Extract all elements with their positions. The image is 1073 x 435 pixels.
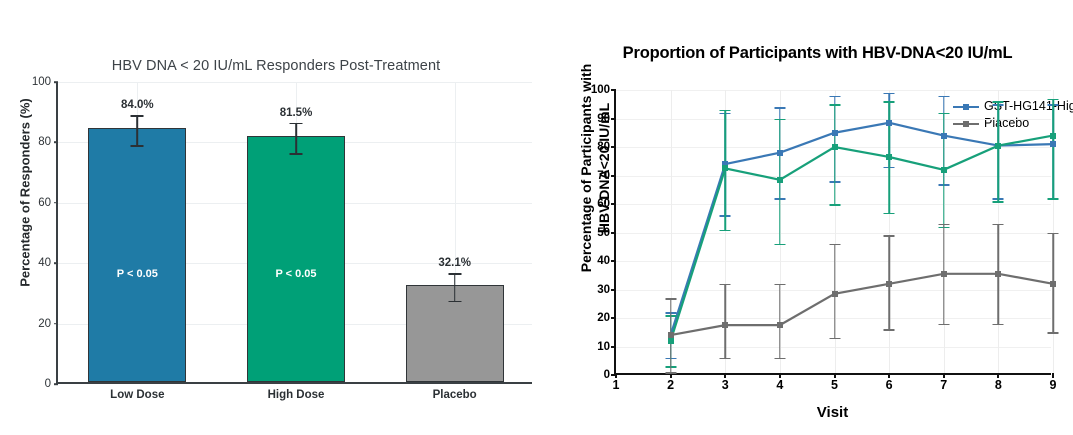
line-chart-title: Proportion of Participants with HBV-DNA<… — [562, 44, 1073, 63]
line-error-cap — [720, 358, 731, 360]
line-y-tick-label: 20 — [597, 312, 610, 324]
line-error-cap — [774, 358, 785, 360]
line-data-point[interactable] — [886, 120, 892, 126]
line-data-point[interactable] — [832, 144, 838, 150]
bar-error-cap — [131, 115, 144, 117]
bar-y-tick-mark — [54, 262, 58, 264]
bar-y-tick-mark — [54, 81, 58, 83]
line-error-cap — [884, 329, 895, 331]
figure-root: HBV DNA < 20 IU/mL Responders Post-Treat… — [0, 0, 1073, 435]
line-y-tick-label: 10 — [597, 341, 610, 353]
line-error-cap — [938, 96, 949, 98]
line-error-cap — [1048, 198, 1059, 200]
bar-value-label: 84.0% — [121, 99, 154, 111]
bar-y-tick-mark — [54, 383, 58, 385]
line-error-cap — [829, 204, 840, 206]
bar-chart-y-axis-label: Percentage of Responders (%) — [18, 68, 33, 318]
line-error-cap — [829, 338, 840, 340]
line-x-tick-label: 7 — [940, 378, 947, 392]
bar-y-tick-mark — [54, 202, 58, 204]
line-error-cap — [993, 101, 1004, 103]
line-x-tick-label: 8 — [995, 378, 1002, 392]
bar-error-cap — [131, 145, 144, 147]
line-chart-x-axis-label: Visit — [614, 404, 1051, 421]
line-error-bar — [834, 104, 836, 204]
bar-error-cap — [448, 301, 461, 303]
line-y-tick-label: 40 — [597, 255, 610, 267]
line-error-cap — [938, 224, 949, 226]
line-x-tick-label: 6 — [886, 378, 893, 392]
line-data-point[interactable] — [777, 177, 783, 183]
bar-y-tick-label: 40 — [38, 257, 51, 269]
line-y-tick-label: 70 — [597, 170, 610, 182]
line-chart-plot-area: GST-HG141-High dosePlacebo 0102030405060… — [614, 90, 1051, 375]
line-error-bar — [725, 284, 727, 358]
line-data-point[interactable] — [1050, 133, 1056, 139]
line-error-cap — [993, 324, 1004, 326]
bar-y-tick-label: 80 — [38, 136, 51, 148]
bar-chart-panel: HBV DNA < 20 IU/mL Responders Post-Treat… — [0, 0, 552, 435]
line-x-tick-label: 1 — [613, 378, 620, 392]
bar-y-tick-label: 100 — [32, 76, 51, 88]
line-y-tick-label: 30 — [597, 284, 610, 296]
line-data-point[interactable] — [886, 154, 892, 160]
line-data-point[interactable] — [1050, 141, 1056, 147]
line-error-cap — [774, 244, 785, 246]
bar-value-label: 81.5% — [280, 107, 313, 119]
bar-x-tick-label: Placebo — [433, 389, 477, 401]
bar-value-label: 32.1% — [438, 257, 471, 269]
line-data-point[interactable] — [1050, 281, 1056, 287]
line-error-cap — [829, 104, 840, 106]
bar-y-tick-label: 60 — [38, 197, 51, 209]
bar-x-tick-label: High Dose — [268, 389, 325, 401]
line-y-tick-label: 90 — [597, 113, 610, 125]
line-error-cap — [665, 298, 676, 300]
line-error-cap — [993, 201, 1004, 203]
line-data-point[interactable] — [777, 322, 783, 328]
bar-error-bar — [454, 273, 456, 300]
line-data-point[interactable] — [668, 332, 674, 338]
line-data-point[interactable] — [832, 291, 838, 297]
bar-y-tick-label: 0 — [45, 378, 51, 390]
line-data-point[interactable] — [995, 271, 1001, 277]
line-error-bar — [779, 284, 781, 358]
line-data-point[interactable] — [941, 271, 947, 277]
line-error-bar — [998, 101, 1000, 201]
line-error-cap — [884, 235, 895, 237]
bar-gridline — [58, 82, 532, 83]
line-error-bar — [1052, 99, 1054, 199]
line-y-tick-label: 80 — [597, 141, 610, 153]
line-error-cap — [774, 107, 785, 109]
line-data-point[interactable] — [832, 130, 838, 136]
line-data-point[interactable] — [722, 165, 728, 171]
line-error-cap — [938, 113, 949, 115]
line-y-tick-label: 60 — [597, 198, 610, 210]
line-error-cap — [938, 324, 949, 326]
bar-error-bar — [295, 123, 297, 153]
line-y-tick-label: 100 — [591, 84, 610, 96]
line-data-point[interactable] — [886, 281, 892, 287]
line-error-cap — [829, 96, 840, 98]
line-data-point[interactable] — [668, 338, 674, 344]
line-error-cap — [720, 230, 731, 232]
bar-y-tick-mark — [54, 323, 58, 325]
line-error-cap — [720, 110, 731, 112]
line-data-point[interactable] — [777, 150, 783, 156]
line-error-cap — [774, 119, 785, 121]
line-chart-y-axis-label-line1: Percentage of Participants with — [577, 33, 595, 303]
bar-chart-plot-area: 02040608010084.0%P < 0.05Low Dose81.5%P … — [56, 82, 532, 384]
line-error-cap — [720, 284, 731, 286]
bar-low-dose[interactable] — [88, 128, 186, 382]
bar-y-tick-mark — [54, 142, 58, 144]
line-data-point[interactable] — [722, 322, 728, 328]
bar-error-bar — [137, 115, 139, 145]
line-x-tick-label: 3 — [722, 378, 729, 392]
line-error-cap — [665, 372, 676, 374]
line-error-cap — [829, 244, 840, 246]
line-data-point[interactable] — [995, 143, 1001, 149]
bar-x-tick-label: Low Dose — [110, 389, 164, 401]
bar-error-cap — [448, 273, 461, 275]
line-error-cap — [1048, 332, 1059, 334]
line-x-tick-label: 9 — [1050, 378, 1057, 392]
bar-error-cap — [290, 153, 303, 155]
line-y-tick-label: 0 — [604, 369, 610, 381]
line-data-point[interactable] — [941, 133, 947, 139]
bar-y-tick-label: 20 — [38, 318, 51, 330]
line-error-cap — [884, 93, 895, 95]
line-chart-panel: Proportion of Participants with HBV-DNA<… — [552, 0, 1073, 435]
line-x-tick-label: 2 — [667, 378, 674, 392]
line-data-point[interactable] — [941, 167, 947, 173]
bar-high-dose[interactable] — [247, 136, 345, 382]
bar-chart-title: HBV DNA < 20 IU/mL Responders Post-Treat… — [0, 58, 552, 74]
line-x-tick-label: 5 — [831, 378, 838, 392]
bar-error-cap — [290, 123, 303, 125]
line-error-cap — [884, 101, 895, 103]
line-y-tick-label: 50 — [597, 227, 610, 239]
line-error-cap — [1048, 233, 1059, 235]
line-error-cap — [774, 284, 785, 286]
bar-significance-annotation: P < 0.05 — [275, 268, 316, 280]
bar-significance-annotation: P < 0.05 — [117, 268, 158, 280]
line-x-tick-label: 4 — [776, 378, 783, 392]
line-error-cap — [1048, 99, 1059, 101]
line-error-cap — [993, 224, 1004, 226]
line-error-cap — [884, 213, 895, 215]
